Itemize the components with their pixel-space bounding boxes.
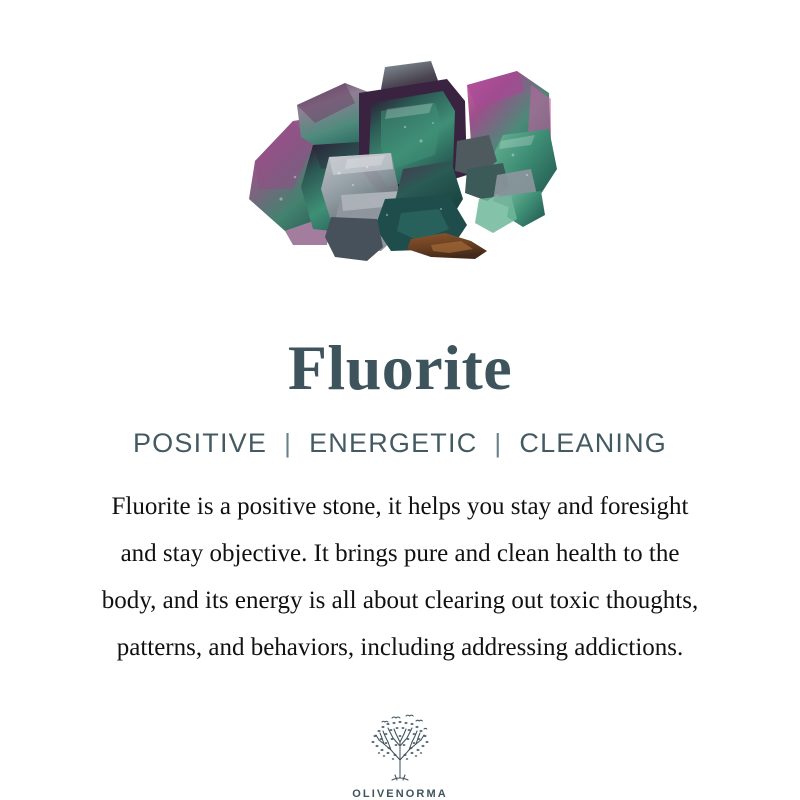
keyword-energetic: ENERGETIC [309, 430, 477, 457]
keyword-list: POSITIVE | ENERGETIC | CLEANING [133, 430, 667, 457]
description-line: patterns, and behaviors, including addre… [20, 624, 780, 671]
keyword-separator-2: | [494, 430, 502, 456]
page-title: Fluorite [288, 336, 512, 400]
keyword-separator-1: | [284, 430, 292, 456]
crystal-image-figure [0, 0, 800, 312]
olive-tree-logo-icon [362, 712, 438, 786]
brand-name: OLIVENORMA [352, 789, 448, 800]
keyword-positive: POSITIVE [133, 430, 267, 457]
description-line: Fluorite is a positive stone, it helps y… [20, 483, 780, 530]
description-line: and stay objective. It brings pure and c… [20, 530, 780, 577]
description-line: body, and its energy is all about cleari… [20, 577, 780, 624]
keyword-cleaning: CLEANING [519, 430, 667, 457]
stone-info-card: Fluorite POSITIVE | ENERGETIC | CLEANING… [0, 0, 800, 800]
brand-logo: OLIVENORMA [352, 712, 448, 800]
stone-description: Fluorite is a positive stone, it helps y… [20, 483, 780, 671]
fluorite-crystal-illustration [235, 49, 565, 264]
